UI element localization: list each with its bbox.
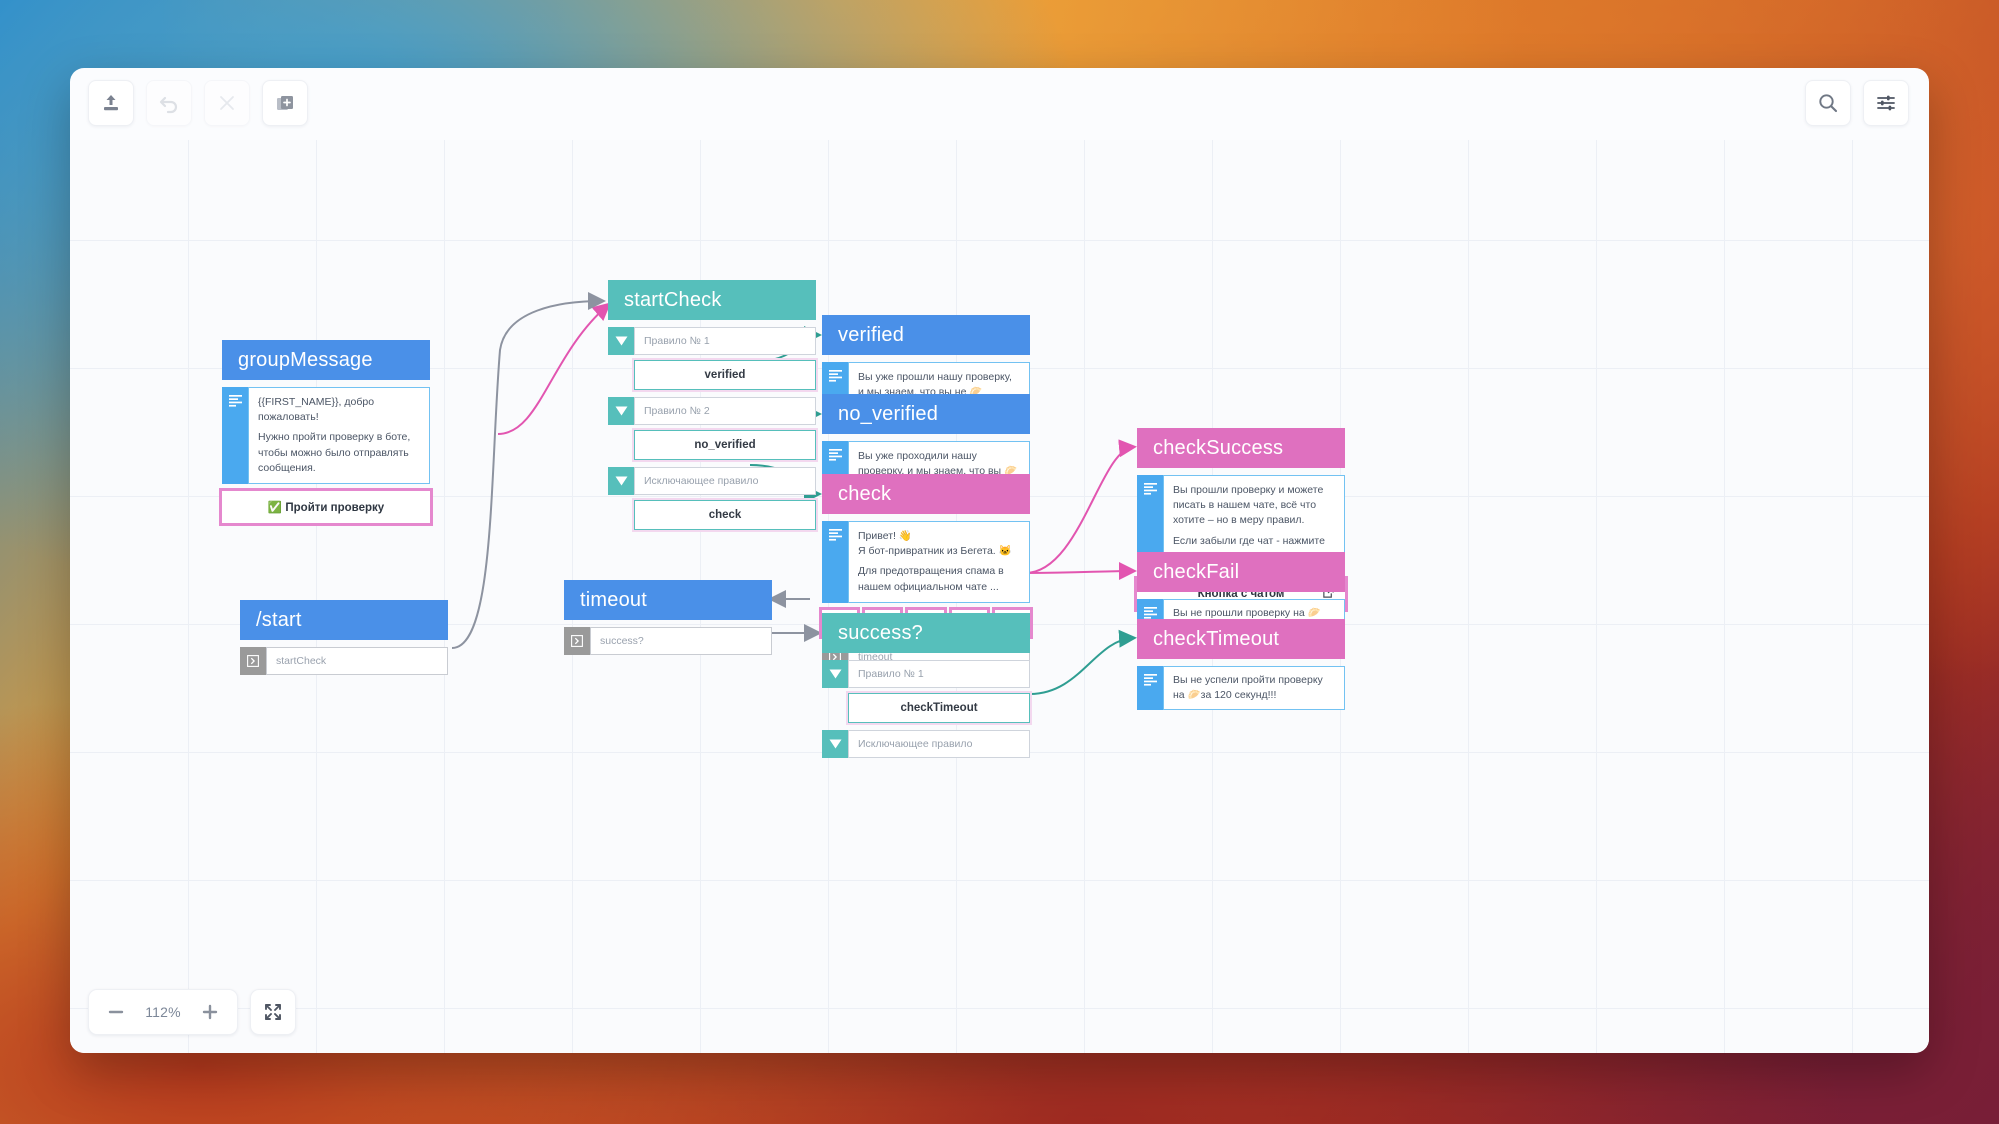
rule-label: Правило № 1 bbox=[848, 660, 1030, 688]
message-line: Вы прошли проверку и можете писать в наш… bbox=[1173, 483, 1335, 529]
jump-target: success? bbox=[590, 627, 772, 655]
node-timeout[interactable]: timeout success? bbox=[564, 580, 772, 655]
rule-target[interactable]: checkTimeout bbox=[848, 693, 1030, 723]
zoom-level-label: 112% bbox=[137, 1004, 189, 1020]
jump-block[interactable]: startCheck bbox=[240, 647, 448, 675]
edge-success-checktimeout bbox=[1030, 638, 1133, 694]
rule-block[interactable]: Правило № 2 bbox=[608, 397, 816, 425]
node-groupmessage[interactable]: groupMessage {{FIRST_NAME}}, добро пожал… bbox=[222, 340, 430, 523]
node-checkfail[interactable]: checkFail Вы не прошли проверку на 🥟 bbox=[1137, 552, 1345, 628]
node-title: /start bbox=[240, 600, 448, 640]
rule-block[interactable]: Исключающее правило bbox=[822, 730, 1030, 758]
message-block[interactable]: Вы не успели пройти проверку на 🥟за 120 … bbox=[1137, 666, 1345, 710]
node-start[interactable]: /start startCheck bbox=[240, 600, 448, 675]
node-title: success? bbox=[822, 613, 1030, 653]
message-line: Нужно пройти проверку в боте, чтобы можн… bbox=[258, 430, 420, 476]
node-title: checkFail bbox=[1137, 552, 1345, 592]
node-title: checkTimeout bbox=[1137, 619, 1345, 659]
rule-block[interactable]: Исключающее правило bbox=[608, 467, 816, 495]
message-icon bbox=[822, 521, 848, 603]
fit-to-screen-button[interactable] bbox=[250, 989, 296, 1035]
edge-check-checksuccess bbox=[1025, 447, 1133, 573]
node-title: check bbox=[822, 474, 1030, 514]
message-text: Вы не успели пройти проверку на 🥟за 120 … bbox=[1163, 666, 1345, 710]
settings-button[interactable] bbox=[1863, 80, 1909, 126]
rule-target[interactable]: check bbox=[634, 500, 816, 530]
jump-icon bbox=[564, 627, 590, 655]
zoom-in-button[interactable] bbox=[189, 991, 231, 1033]
message-block[interactable]: {{FIRST_NAME}}, добро пожаловать! Нужно … bbox=[222, 387, 430, 484]
message-line: Вы не успели пройти проверку на 🥟за 120 … bbox=[1173, 673, 1335, 703]
edge-groupmessage-startcheck bbox=[498, 305, 608, 434]
left-toolbar bbox=[88, 80, 308, 126]
jump-target: startCheck bbox=[266, 647, 448, 675]
node-title: timeout bbox=[564, 580, 772, 620]
jump-icon bbox=[240, 647, 266, 675]
rule-label: Исключающее правило bbox=[634, 467, 816, 495]
rule-triangle-icon bbox=[822, 730, 848, 758]
rule-block[interactable]: Правило № 1 bbox=[608, 327, 816, 355]
node-title: startCheck bbox=[608, 280, 816, 320]
rule-label: Правило № 1 bbox=[634, 327, 816, 355]
message-line: {{FIRST_NAME}}, добро пожаловать! bbox=[258, 395, 420, 425]
message-line: Я бот-привратник из Бегета. 🐱 bbox=[858, 544, 1020, 559]
message-icon bbox=[1137, 666, 1163, 710]
rule-triangle-icon bbox=[608, 467, 634, 495]
node-title: groupMessage bbox=[222, 340, 430, 380]
zoom-out-button[interactable] bbox=[95, 991, 137, 1033]
node-title: verified bbox=[822, 315, 1030, 355]
rule-label: Исключающее правило bbox=[848, 730, 1030, 758]
node-title: checkSuccess bbox=[1137, 428, 1345, 468]
message-text: Привет! 👋 Я бот-привратник из Бегета. 🐱 … bbox=[848, 521, 1030, 603]
rule-triangle-icon bbox=[822, 660, 848, 688]
rule-triangle-icon bbox=[608, 397, 634, 425]
zoom-toolbar: 112% bbox=[88, 989, 296, 1035]
undo-button[interactable] bbox=[146, 80, 192, 126]
node-startcheck[interactable]: startCheck Правило № 1 verified Правило … bbox=[608, 280, 816, 530]
message-block[interactable]: Привет! 👋 Я бот-привратник из Бегета. 🐱 … bbox=[822, 521, 1030, 603]
rule-triangle-icon bbox=[608, 327, 634, 355]
right-toolbar bbox=[1805, 80, 1909, 126]
flow-editor-window: groupMessage {{FIRST_NAME}}, добро пожал… bbox=[70, 68, 1929, 1053]
node-success[interactable]: success? Правило № 1 checkTimeout Исключ… bbox=[822, 613, 1030, 758]
message-text: {{FIRST_NAME}}, добро пожаловать! Нужно … bbox=[248, 387, 430, 484]
rule-target[interactable]: no_verified bbox=[634, 430, 816, 460]
jump-block[interactable]: success? bbox=[564, 627, 772, 655]
upload-button[interactable] bbox=[88, 80, 134, 126]
duplicate-button[interactable] bbox=[262, 80, 308, 126]
rule-block[interactable]: Правило № 1 bbox=[822, 660, 1030, 688]
zoom-group: 112% bbox=[88, 989, 238, 1035]
node-title: no_verified bbox=[822, 394, 1030, 434]
message-icon bbox=[222, 387, 248, 484]
search-button[interactable] bbox=[1805, 80, 1851, 126]
node-checktimeout[interactable]: checkTimeout Вы не успели пройти проверк… bbox=[1137, 619, 1345, 710]
rule-target[interactable]: verified bbox=[634, 360, 816, 390]
button-label: ✅ Пройти проверку bbox=[268, 500, 384, 514]
flow-canvas[interactable]: groupMessage {{FIRST_NAME}}, добро пожал… bbox=[70, 140, 1929, 1053]
message-line: Для предотвращения спама в нашем официал… bbox=[858, 564, 1020, 594]
rule-label: Правило № 2 bbox=[634, 397, 816, 425]
message-line: Привет! 👋 bbox=[858, 529, 1020, 544]
edge-check-checkfail bbox=[1025, 571, 1133, 573]
close-button[interactable] bbox=[204, 80, 250, 126]
groupmessage-action-button[interactable]: ✅ Пройти проверку bbox=[222, 491, 430, 523]
